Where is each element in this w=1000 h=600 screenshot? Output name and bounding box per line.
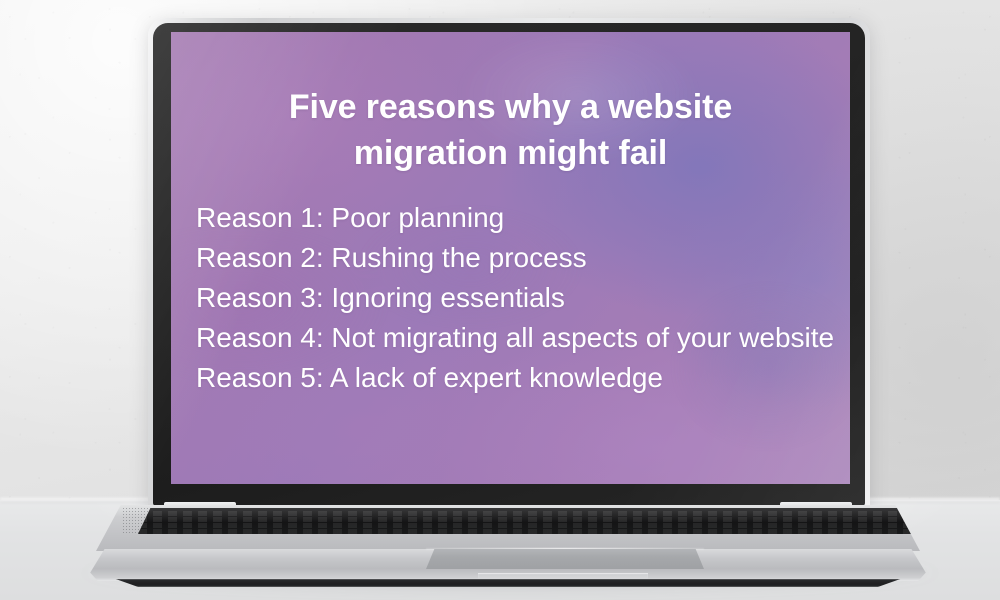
bullet-reason-4: Reason 4: Not migrating all aspects of y…	[196, 324, 836, 352]
slide-title: Five reasons why a website migration mig…	[211, 84, 810, 176]
laptop-screen[interactable]: Five reasons why a website migration mig…	[171, 32, 850, 484]
bullet-reason-3: Reason 3: Ignoring essentials	[196, 284, 836, 312]
laptop-lid: Five reasons why a website migration mig…	[148, 18, 870, 510]
keyboard[interactable]	[138, 508, 914, 534]
laptop-base	[78, 505, 938, 585]
photo-scene: Five reasons why a website migration mig…	[0, 0, 1000, 600]
bullet-reason-1: Reason 1: Poor planning	[196, 204, 836, 232]
base-top-deck	[96, 505, 920, 551]
presentation-slide: Five reasons why a website migration mig…	[171, 32, 850, 484]
bullet-reason-5: Reason 5: A lack of expert knowledge	[196, 364, 836, 392]
base-underside	[106, 579, 910, 587]
slide-title-line-2: migration might fail	[211, 130, 810, 176]
slide-title-line-1: Five reasons why a website	[211, 84, 810, 130]
bullet-reason-2: Reason 2: Rushing the process	[196, 244, 836, 272]
trackpad[interactable]	[426, 549, 704, 569]
slide-bullet-list: Reason 1: Poor planning Reason 2: Rushin…	[196, 204, 836, 404]
keyboard-gloss	[138, 508, 914, 534]
